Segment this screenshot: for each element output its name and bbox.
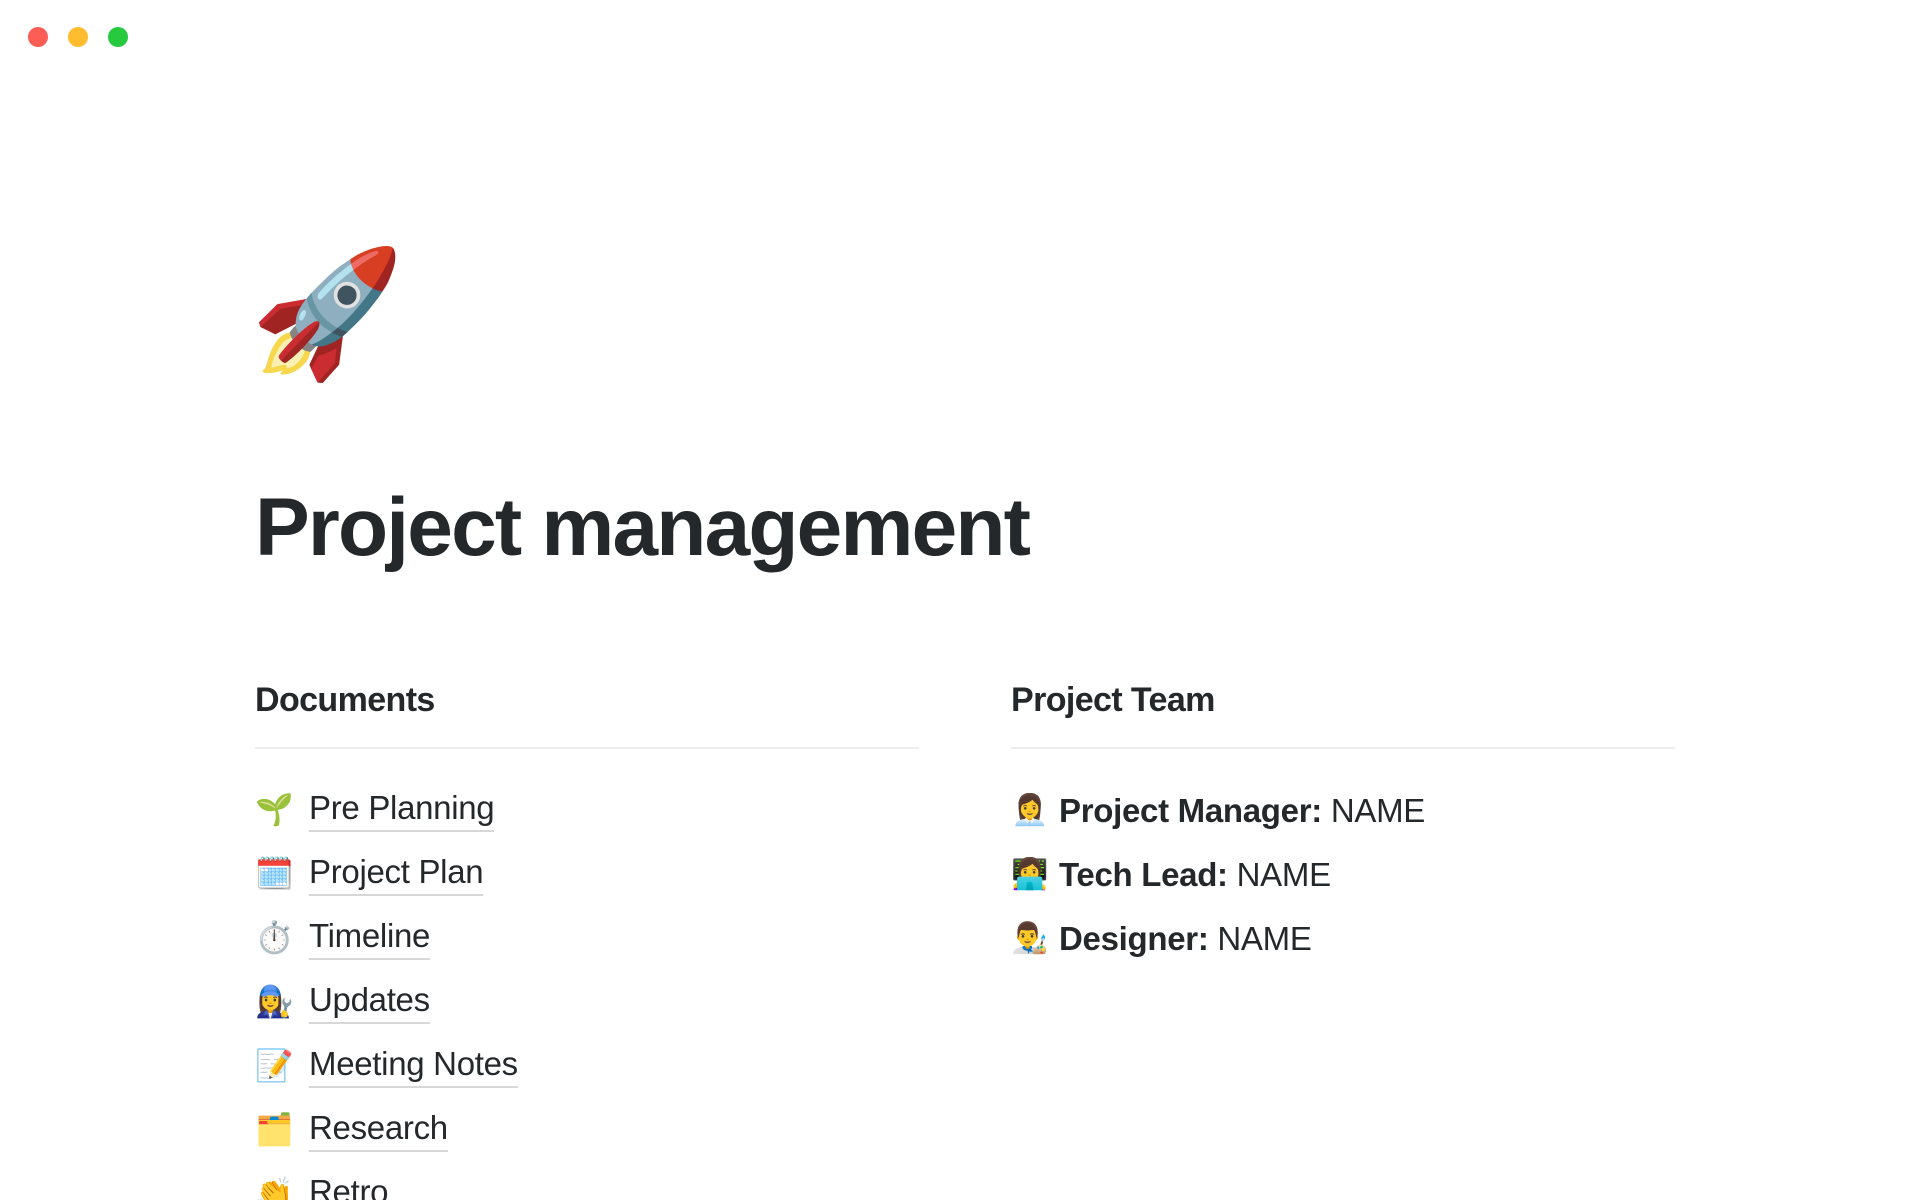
spiral-notepad-icon: 🗓️ bbox=[255, 859, 295, 890]
document-link-meeting-notes[interactable]: Meeting Notes bbox=[309, 1045, 518, 1088]
team-member-designer: Designer: NAME bbox=[1059, 920, 1312, 958]
list-item[interactable]: 👩‍🔧 Updates bbox=[255, 971, 919, 1035]
project-team-divider bbox=[1011, 747, 1675, 749]
woman-technologist-icon: 👩‍💻 bbox=[1011, 860, 1049, 890]
document-link-project-plan[interactable]: Project Plan bbox=[309, 853, 483, 896]
list-item[interactable]: 🌱 Pre Planning bbox=[255, 779, 919, 843]
project-team-column: Project Team 👩‍💼 Project Manager: NAME 👩… bbox=[1011, 680, 1675, 1200]
woman-office-worker-icon: 👩‍💼 bbox=[1011, 796, 1049, 826]
content-columns: Documents 🌱 Pre Planning 🗓️ Project Plan… bbox=[255, 680, 1675, 1200]
list-item[interactable]: 👏 Retro bbox=[255, 1163, 919, 1200]
document-link-pre-planning[interactable]: Pre Planning bbox=[309, 789, 494, 832]
woman-mechanic-icon: 👩‍🔧 bbox=[255, 987, 295, 1018]
documents-divider bbox=[255, 747, 919, 749]
document-link-updates[interactable]: Updates bbox=[309, 981, 430, 1024]
list-item: 👨‍🎨 Designer: NAME bbox=[1011, 907, 1675, 971]
list-item: 👩‍💻 Tech Lead: NAME bbox=[1011, 843, 1675, 907]
document-link-retro[interactable]: Retro bbox=[309, 1173, 388, 1200]
team-member-name: NAME bbox=[1217, 920, 1311, 957]
team-member-project-manager: Project Manager: NAME bbox=[1059, 792, 1425, 830]
documents-column: Documents 🌱 Pre Planning 🗓️ Project Plan… bbox=[255, 680, 919, 1200]
seedling-icon: 🌱 bbox=[255, 795, 295, 826]
list-item[interactable]: 🗓️ Project Plan bbox=[255, 843, 919, 907]
clapping-hands-icon: 👏 bbox=[255, 1179, 295, 1200]
team-role-label: Project Manager: bbox=[1059, 792, 1322, 829]
team-member-name: NAME bbox=[1237, 856, 1331, 893]
list-item: 👩‍💼 Project Manager: NAME bbox=[1011, 779, 1675, 843]
team-member-tech-lead: Tech Lead: NAME bbox=[1059, 856, 1331, 894]
man-artist-icon: 👨‍🎨 bbox=[1011, 924, 1049, 954]
document-page: 🚀 Project management Documents 🌱 Pre Pla… bbox=[0, 0, 1920, 1200]
team-member-name: NAME bbox=[1331, 792, 1425, 829]
memo-icon: 📝 bbox=[255, 1051, 295, 1082]
list-item[interactable]: ⏱️ Timeline bbox=[255, 907, 919, 971]
documents-heading: Documents bbox=[255, 680, 919, 721]
project-team-heading: Project Team bbox=[1011, 680, 1675, 721]
stopwatch-icon: ⏱️ bbox=[255, 923, 295, 954]
list-item[interactable]: 📝 Meeting Notes bbox=[255, 1035, 919, 1099]
list-item[interactable]: 🗂️ Research bbox=[255, 1099, 919, 1163]
project-team-list: 👩‍💼 Project Manager: NAME 👩‍💻 Tech Lead:… bbox=[1011, 779, 1675, 971]
page-title[interactable]: Project management bbox=[255, 487, 1029, 569]
file-dividers-icon: 🗂️ bbox=[255, 1115, 295, 1146]
rocket-icon[interactable]: 🚀 bbox=[250, 252, 404, 376]
team-role-label: Designer: bbox=[1059, 920, 1209, 957]
document-link-timeline[interactable]: Timeline bbox=[309, 917, 430, 960]
document-link-research[interactable]: Research bbox=[309, 1109, 448, 1152]
documents-list: 🌱 Pre Planning 🗓️ Project Plan ⏱️ Timeli… bbox=[255, 779, 919, 1200]
team-role-label: Tech Lead: bbox=[1059, 856, 1228, 893]
